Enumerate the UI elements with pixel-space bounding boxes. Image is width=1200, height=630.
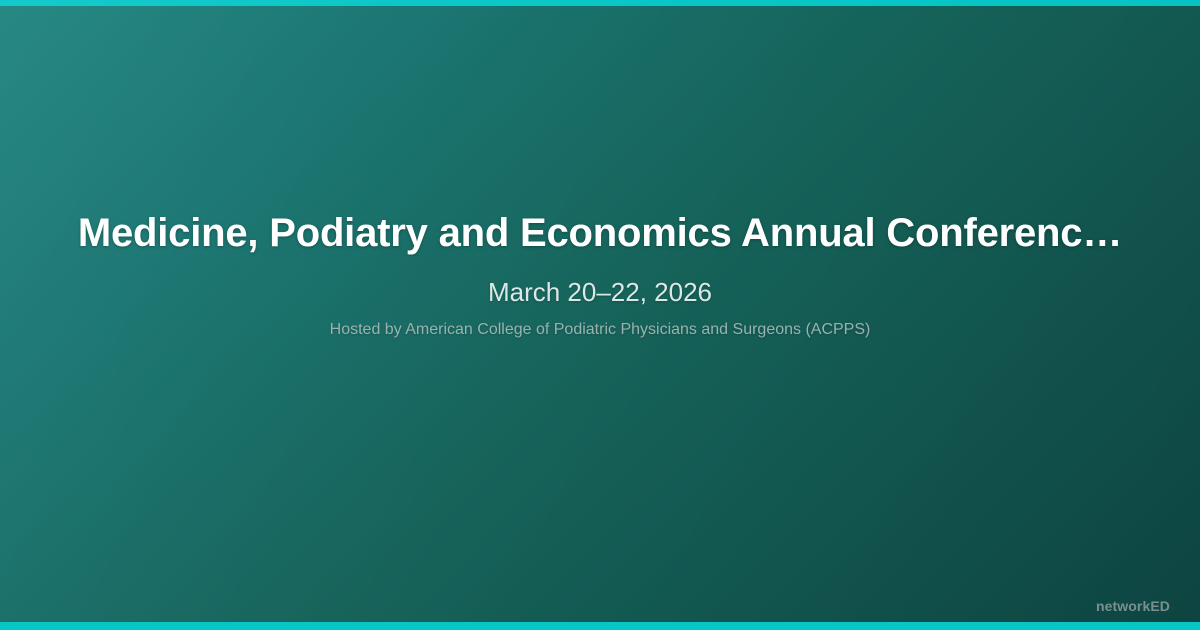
banner-content: Medicine, Podiatry and Economics Annual … xyxy=(0,0,1200,630)
accent-bar-bottom xyxy=(0,622,1200,630)
event-title: Medicine, Podiatry and Economics Annual … xyxy=(70,210,1130,256)
event-host-organization: Hosted by American College of Podiatric … xyxy=(330,320,871,340)
event-banner: Medicine, Podiatry and Economics Annual … xyxy=(0,0,1200,630)
event-dates: March 20–22, 2026 xyxy=(488,277,712,308)
brand-watermark: networkED xyxy=(1096,598,1170,614)
